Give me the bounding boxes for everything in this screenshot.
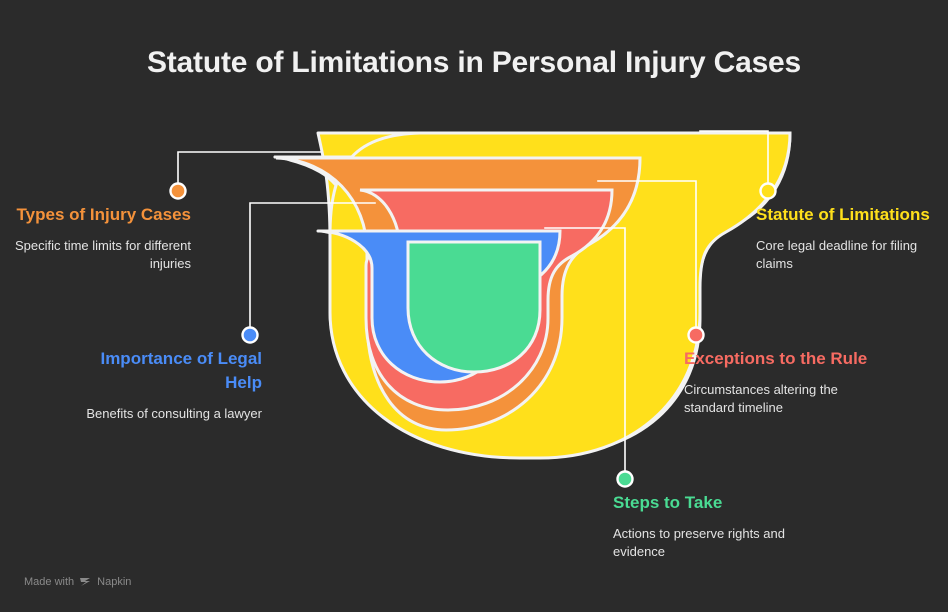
node-dot-steps[interactable] xyxy=(618,472,633,487)
node-dot-types[interactable] xyxy=(171,184,186,199)
node-description: Circumstances altering the standard time… xyxy=(684,381,869,417)
node-heading: Exceptions to the Rule xyxy=(684,347,869,371)
node-description: Benefits of consulting a lawyer xyxy=(62,405,262,423)
watermark-brand: Napkin xyxy=(97,576,131,588)
node-importance-of-legal-help[interactable]: Importance of Legal Help Benefits of con… xyxy=(62,347,262,423)
node-description: Core legal deadline for filing claims xyxy=(756,237,946,273)
watermark-prefix: Made with xyxy=(24,576,74,588)
node-dot-statute[interactable] xyxy=(761,184,776,199)
node-statute-of-limitations[interactable]: Statute of Limitations Core legal deadli… xyxy=(756,203,946,273)
node-heading: Importance of Legal Help xyxy=(62,347,262,395)
node-types-of-injury-cases[interactable]: Types of Injury Cases Specific time limi… xyxy=(0,203,191,273)
node-dot-exceptions[interactable] xyxy=(689,328,704,343)
node-heading: Steps to Take xyxy=(613,491,813,515)
node-steps-to-take[interactable]: Steps to Take Actions to preserve rights… xyxy=(613,491,813,561)
napkin-watermark: Made with Napkin xyxy=(24,576,131,588)
node-description: Actions to preserve rights and evidence xyxy=(613,525,813,561)
node-exceptions-to-the-rule[interactable]: Exceptions to the Rule Circumstances alt… xyxy=(684,347,869,417)
napkin-logo-icon xyxy=(79,576,92,588)
funnel-green-core xyxy=(408,242,540,372)
node-dot-importance[interactable] xyxy=(243,328,258,343)
node-heading: Statute of Limitations xyxy=(756,203,946,227)
node-description: Specific time limits for different injur… xyxy=(0,237,191,273)
node-heading: Types of Injury Cases xyxy=(0,203,191,227)
infographic-canvas: Statute of Limitations in Personal Injur… xyxy=(0,0,948,612)
